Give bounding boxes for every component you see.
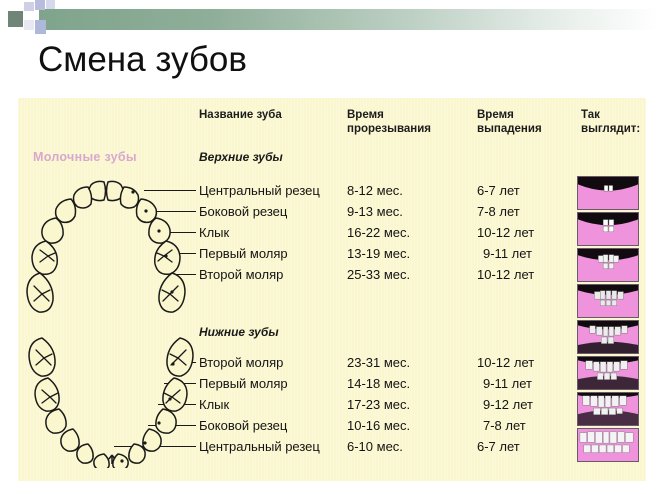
- cell-tooth-name: Первый моляр: [199, 243, 288, 264]
- column-header-appearance: Так выглядит:: [581, 109, 640, 136]
- header-square-dark: [7, 11, 23, 27]
- header-left-mask: [0, 0, 8, 32]
- cell-tooth-name: Второй моляр: [199, 264, 283, 285]
- cell-eruption-time: 17-23 мес.: [347, 394, 410, 415]
- cell-tooth-name: Второй моляр: [199, 352, 283, 373]
- table-row: Первый моляр 13-19 мес. 9-11 лет: [199, 243, 619, 264]
- teeth-chart-panel: Название зуба Время прорезывания Время в…: [18, 98, 646, 481]
- column-header-shedding-line1: Время: [477, 109, 542, 123]
- column-header-appearance-line1: Так: [581, 109, 640, 123]
- cell-shedding-time: 9-12 лет: [483, 394, 533, 415]
- cell-tooth-name: Центральный резец: [199, 180, 320, 201]
- cell-eruption-time: 13-19 мес.: [347, 243, 410, 264]
- table-row: Центральный резец 6-10 мес. 6-7 лет: [199, 436, 619, 457]
- cell-eruption-time: 16-22 мес.: [347, 222, 410, 243]
- table-row: Боковой резец 9-13 мес. 7-8 лет: [199, 201, 619, 222]
- cell-shedding-time: 6-7 лет: [477, 180, 520, 201]
- eruption-stage-2: [577, 212, 639, 246]
- table-row: Первый моляр 14-18 мес. 9-11 лет: [199, 373, 619, 394]
- header-square-pale: [46, 0, 55, 9]
- column-header-shedding-line2: выпадения: [477, 123, 542, 137]
- header-square-lilac-bottom: [24, 20, 34, 30]
- column-header-eruption-line2: прорезывания: [347, 123, 431, 137]
- page-title: Смена зубов: [38, 38, 247, 82]
- eruption-stage-7: [577, 392, 639, 426]
- cell-eruption-time: 10-16 мес.: [347, 415, 410, 436]
- cell-shedding-time: 6-7 лет: [477, 436, 520, 457]
- cell-eruption-time: 23-31 мес.: [347, 352, 410, 373]
- eruption-stage-1: [577, 176, 639, 210]
- cell-shedding-time: 10-12 лет: [477, 222, 534, 243]
- column-header-shedding-time: Время выпадения: [477, 109, 542, 136]
- column-header-eruption-line1: Время: [347, 109, 431, 123]
- column-header-tooth-name: Название зуба: [199, 109, 282, 123]
- table-row: Клык 17-23 мес. 9-12 лет: [199, 394, 619, 415]
- milk-teeth-label: Молочные зубы: [33, 150, 137, 164]
- cell-tooth-name: Боковой резец: [199, 415, 287, 436]
- cell-eruption-time: 25-33 мес.: [347, 264, 410, 285]
- eruption-stage-4: [577, 284, 639, 318]
- cell-eruption-time: 8-12 мес.: [347, 180, 403, 201]
- section-label-lower-teeth: Нижние зубы: [199, 325, 279, 339]
- header-decoration-band: [0, 0, 659, 30]
- header-square-blue-bottom: [35, 20, 46, 34]
- cell-shedding-time: 9-11 лет: [483, 373, 532, 394]
- cell-tooth-name: Клык: [199, 222, 229, 243]
- header-square-blue-top: [35, 0, 45, 10]
- table-row: Второй моляр 25-33 мес. 10-12 лет: [199, 264, 619, 285]
- column-header-eruption-time: Время прорезывания: [347, 109, 431, 136]
- eruption-stage-5: [577, 320, 639, 354]
- eruption-stage-6: [577, 356, 639, 390]
- table-row: Второй моляр 23-31 мес. 10-12 лет: [199, 352, 619, 373]
- cell-tooth-name: Первый моляр: [199, 373, 288, 394]
- section-label-upper-teeth: Верхние зубы: [199, 150, 283, 164]
- header-square-lilac-top: [24, 2, 34, 11]
- table-row: Боковой резец 10-16 мес. 7-8 лет: [199, 415, 619, 436]
- cell-tooth-name: Центральный резец: [199, 436, 320, 457]
- cell-shedding-time: 10-12 лет: [477, 264, 534, 285]
- table-row: Центральный резец 8-12 мес. 6-7 лет: [199, 180, 619, 201]
- cell-shedding-time: 10-12 лет: [477, 352, 534, 373]
- cell-shedding-time: 7-8 лет: [483, 415, 526, 436]
- cell-eruption-time: 9-13 мес.: [347, 201, 403, 222]
- header-gradient-bar: [39, 9, 659, 30]
- dental-arch-diagram: [26, 178, 196, 468]
- eruption-stage-3: [577, 248, 639, 282]
- column-header-appearance-line2: выглядит:: [581, 123, 640, 137]
- cell-shedding-time: 7-8 лет: [477, 201, 520, 222]
- cell-eruption-time: 6-10 мес.: [347, 436, 403, 457]
- table-row: Клык 16-22 мес. 10-12 лет: [199, 222, 619, 243]
- eruption-stage-8: [577, 428, 639, 462]
- cell-tooth-name: Клык: [199, 394, 229, 415]
- cell-tooth-name: Боковой резец: [199, 201, 287, 222]
- cell-shedding-time: 9-11 лет: [483, 243, 532, 264]
- cell-eruption-time: 14-18 мес.: [347, 373, 410, 394]
- eruption-photo-strip: [577, 176, 639, 463]
